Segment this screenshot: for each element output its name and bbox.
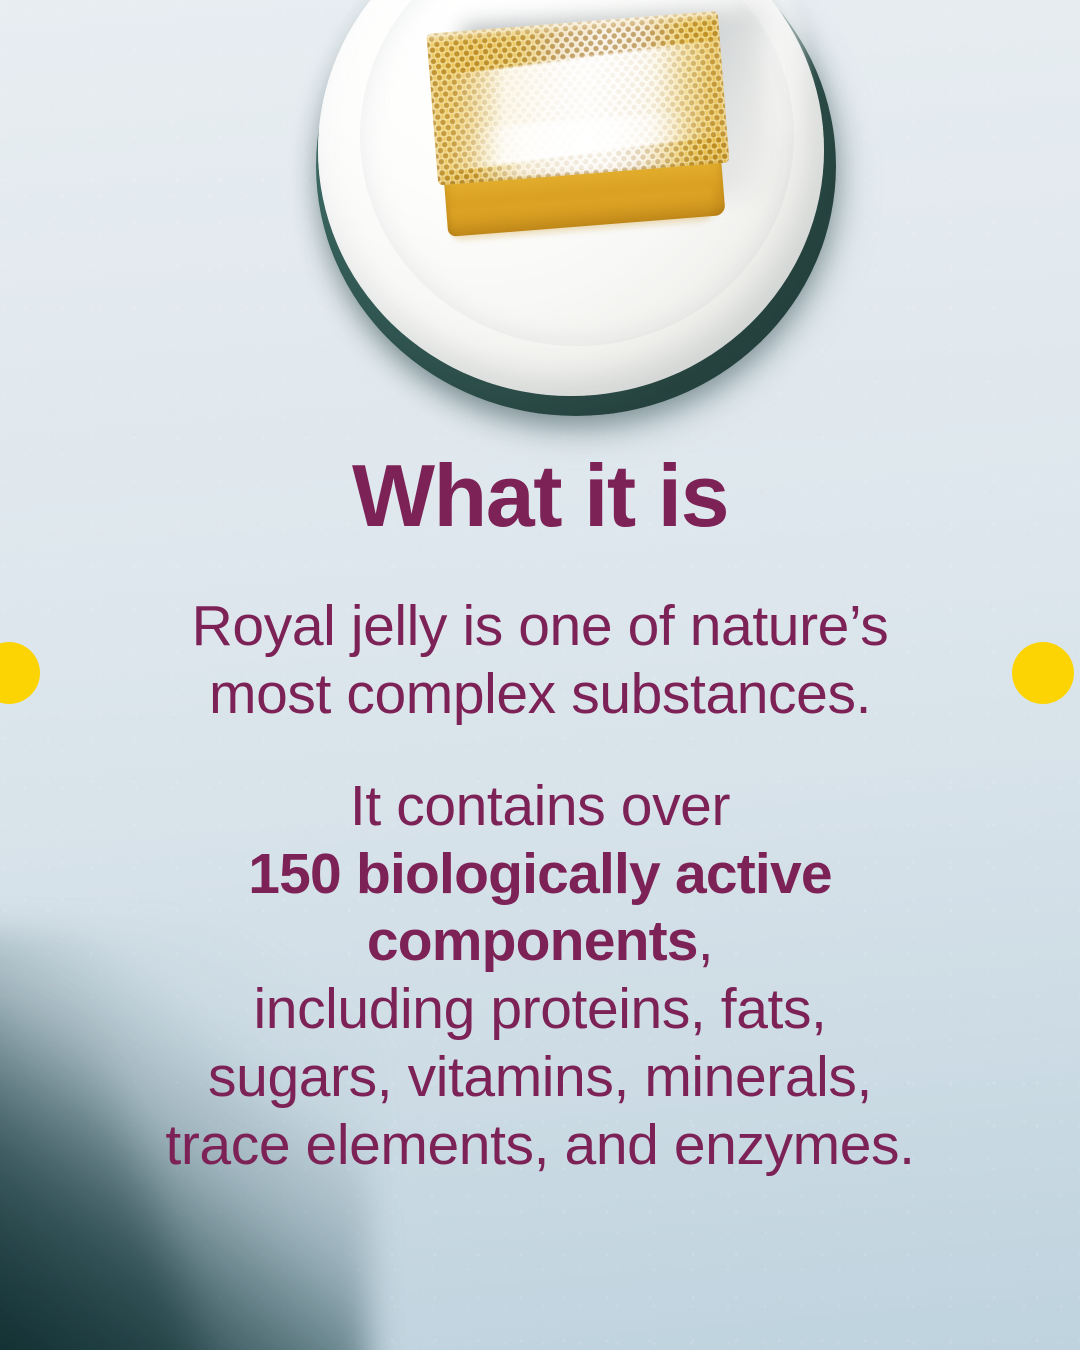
lead-paragraph: Royal jelly is one of nature’s most comp…: [0, 592, 1080, 729]
lead-line-2: most complex substances.: [0, 660, 1080, 728]
body-paragraph: It contains over 150 biologically active…: [0, 773, 1080, 1180]
slide-canvas: What it is Royal jelly is one of nature’…: [0, 0, 1080, 1350]
highlight-text-2: components: [367, 909, 698, 973]
body-highlight-line-1: 150 biologically active: [0, 841, 1080, 909]
highlight-text-1: 150 biologically active: [248, 842, 832, 906]
text-block: What it is Royal jelly is one of nature’…: [0, 452, 1080, 1180]
body-line-3: sugars, vitamins, minerals,: [0, 1044, 1080, 1112]
highlight-trailing-comma: ,: [698, 909, 713, 973]
body-highlight-line-2: components,: [0, 908, 1080, 976]
body-line-1: It contains over: [0, 773, 1080, 841]
lead-line-1: Royal jelly is one of nature’s: [0, 592, 1080, 660]
body-line-4: trace elements, and enzymes.: [0, 1112, 1080, 1180]
honeycomb-top-face: [426, 11, 729, 185]
honeycomb-slab: [426, 11, 736, 239]
body-line-2: including proteins, fats,: [0, 976, 1080, 1044]
honeycomb-photo: [312, 0, 852, 434]
page-title: What it is: [0, 452, 1080, 540]
